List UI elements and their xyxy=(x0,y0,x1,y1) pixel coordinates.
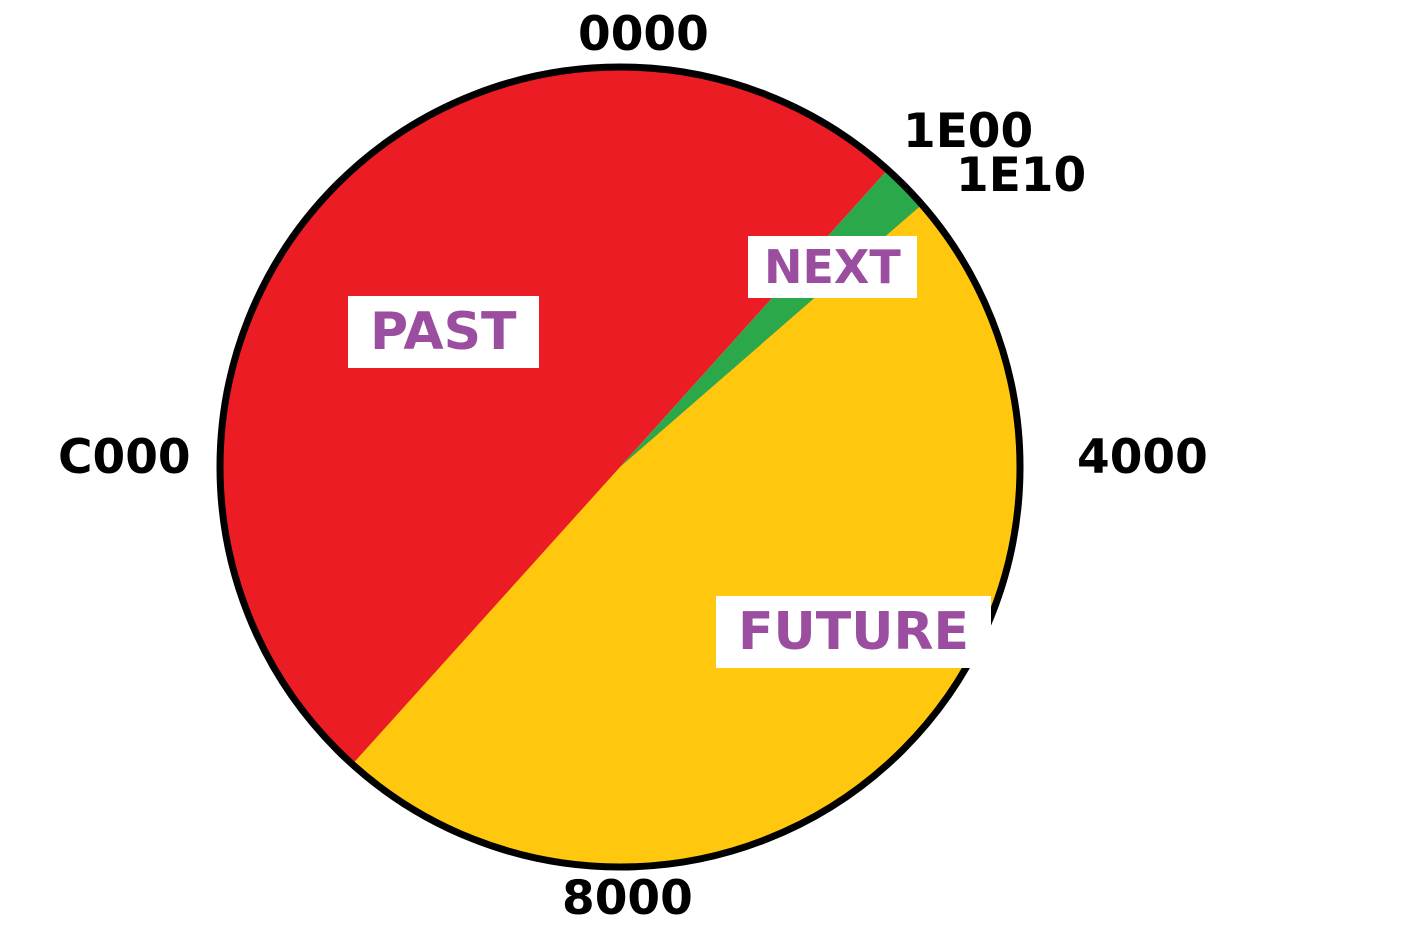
sector-label-future: FUTURE xyxy=(716,596,991,668)
tick-label-0000: 0000 xyxy=(578,11,709,58)
sector-label-next: NEXT xyxy=(748,236,917,298)
tick-label-8000: 8000 xyxy=(562,875,693,922)
tick-label-1E10: 1E10 xyxy=(956,152,1086,199)
diagram-canvas: 0000 1E00 1E10 4000 8000 C000 PAST NEXT … xyxy=(0,0,1404,949)
tick-label-4000: 4000 xyxy=(1077,434,1208,481)
sector-label-past: PAST xyxy=(348,296,539,368)
tick-label-C000: C000 xyxy=(58,434,191,481)
